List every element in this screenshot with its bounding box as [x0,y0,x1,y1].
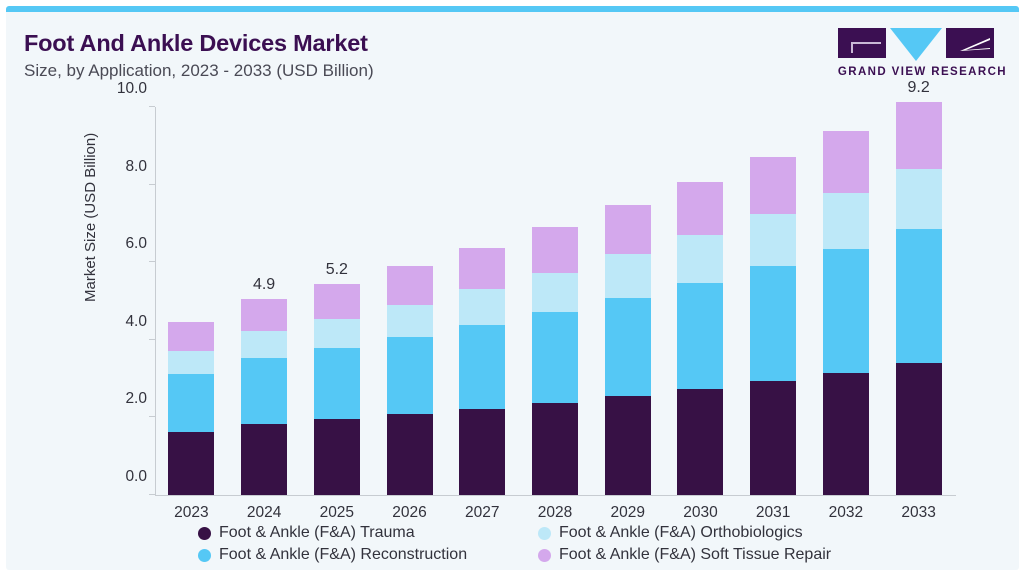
x-axis-tick-label: 2030 [683,504,717,522]
legend-label: Foot & Ankle (F&A) Trauma [219,524,415,542]
x-axis-tick-label: 2032 [829,504,863,522]
bar-segment[interactable] [314,319,360,348]
x-axis-line [155,495,956,496]
y-axis-tick-mark [149,494,155,495]
legend-item[interactable]: Foot & Ankle (F&A) Orthobiologics [538,524,868,542]
bar-segment[interactable] [387,266,433,304]
bar-2029[interactable] [605,205,651,495]
y-axis-tick-label: 0.0 [125,468,147,486]
y-axis-tick-mark [149,184,155,185]
bar-segment[interactable] [823,131,869,193]
x-axis-tick-label: 2031 [756,504,790,522]
plot-area: 0.02.04.06.08.010.04.95.29.2 [155,107,955,495]
bar-segment[interactable] [241,358,287,424]
bar-segment[interactable] [605,254,651,297]
bar-segment[interactable] [677,235,723,283]
bar-segment[interactable] [459,409,505,495]
bar-segment[interactable] [896,229,942,363]
bar-segment[interactable] [314,284,360,319]
bar-segment[interactable] [459,289,505,324]
bar-2031[interactable] [750,157,796,495]
bar-value-label: 5.2 [326,261,348,279]
bar-segment[interactable] [241,331,287,357]
bar-segment[interactable] [387,414,433,495]
bar-segment[interactable] [823,193,869,249]
bar-segment[interactable] [314,419,360,495]
bar-segment[interactable] [168,374,214,433]
bar-segment[interactable] [750,214,796,266]
legend-swatch-icon [198,527,211,540]
bar-segment[interactable] [896,169,942,230]
bar-segment[interactable] [896,102,942,169]
bar-value-label: 4.9 [253,276,275,294]
bar-segment[interactable] [677,283,723,389]
x-axis-tick-label: 2023 [174,504,208,522]
bar-segment[interactable] [314,348,360,419]
chart-legend: Foot & Ankle (F&A) TraumaFoot & Ankle (F… [198,524,898,564]
legend-item[interactable]: Foot & Ankle (F&A) Soft Tissue Repair [538,546,868,564]
y-axis-title: Market Size (USD Billion) [82,133,99,302]
legend-label: Foot & Ankle (F&A) Orthobiologics [559,524,803,542]
y-axis-tick-label: 2.0 [125,390,147,408]
bar-2030[interactable] [677,182,723,495]
bar-segment[interactable] [241,424,287,495]
bar-2026[interactable] [387,266,433,495]
bar-segment[interactable] [677,182,723,235]
bar-segment[interactable] [750,266,796,381]
x-axis-tick-label: 2026 [392,504,426,522]
x-axis-tick-label: 2025 [320,504,354,522]
bar-segment[interactable] [387,305,433,337]
y-axis-tick-label: 6.0 [125,235,147,253]
bar-2027[interactable] [459,248,505,495]
stacked-bar-chart: Market Size (USD Billion) 0.02.04.06.08.… [6,12,1019,576]
bar-2023[interactable] [168,322,214,495]
bar-segment[interactable] [532,312,578,403]
bar-segment[interactable] [168,351,214,374]
x-axis-tick-label: 2028 [538,504,572,522]
x-axis-tick-label: 2033 [901,504,935,522]
bar-2032[interactable] [823,131,869,495]
bar-segment[interactable] [823,249,869,373]
bar-segment[interactable] [168,432,214,495]
chart-card: Foot And Ankle Devices Market Size, by A… [6,6,1019,570]
bar-segment[interactable] [532,273,578,312]
x-axis-tick-label: 2024 [247,504,281,522]
x-axis-tick-label: 2029 [610,504,644,522]
bar-segment[interactable] [168,322,214,351]
bar-2024[interactable]: 4.9 [241,299,287,495]
y-axis-tick-label: 4.0 [125,313,147,331]
bar-2028[interactable] [532,227,578,495]
bar-segment[interactable] [532,227,578,272]
legend-item[interactable]: Foot & Ankle (F&A) Reconstruction [198,546,528,564]
bar-value-label: 9.2 [908,79,930,97]
bar-segment[interactable] [459,248,505,290]
bar-segment[interactable] [605,298,651,397]
y-axis-tick-label: 8.0 [125,158,147,176]
legend-label: Foot & Ankle (F&A) Reconstruction [219,546,467,564]
legend-swatch-icon [538,527,551,540]
legend-label: Foot & Ankle (F&A) Soft Tissue Repair [559,546,831,564]
bar-segment[interactable] [605,205,651,254]
y-axis-tick-mark [149,339,155,340]
legend-swatch-icon [198,549,211,562]
bar-segment[interactable] [750,157,796,214]
y-axis-tick-label: 10.0 [117,80,147,98]
bar-segment[interactable] [459,325,505,409]
bar-segment[interactable] [677,389,723,495]
bar-segment[interactable] [605,396,651,495]
y-axis-tick-mark [149,261,155,262]
x-axis-tick-label: 2027 [465,504,499,522]
y-axis-tick-mark [149,416,155,417]
bar-segment[interactable] [241,299,287,331]
bar-segment[interactable] [750,381,796,495]
y-axis-tick-mark [149,106,155,107]
bar-2033[interactable]: 9.2 [896,102,942,495]
bar-segment[interactable] [387,337,433,415]
legend-swatch-icon [538,549,551,562]
bar-segment[interactable] [823,373,869,495]
bar-segment[interactable] [896,363,942,495]
bar-segment[interactable] [532,403,578,495]
legend-item[interactable]: Foot & Ankle (F&A) Trauma [198,524,528,542]
bar-2025[interactable]: 5.2 [314,284,360,495]
